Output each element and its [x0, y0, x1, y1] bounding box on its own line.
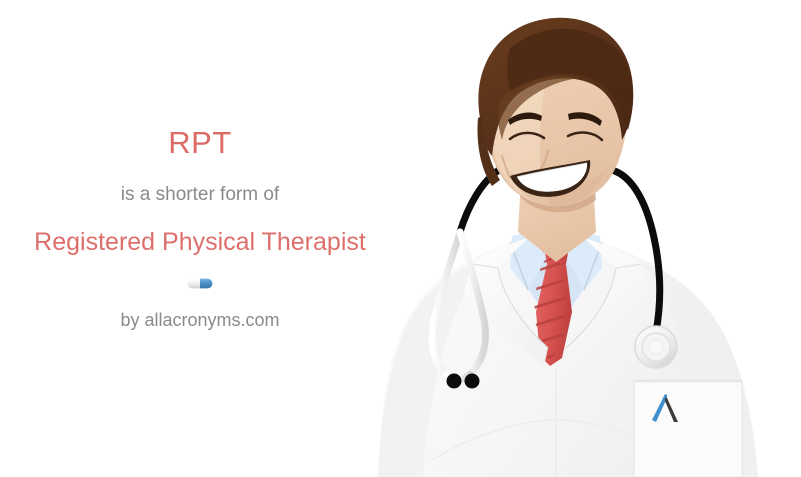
attribution-text: by allacronyms.com	[120, 310, 279, 332]
smiling-doctor-illustration	[360, 0, 801, 477]
definition-text-panel: RPT is a shorter form of Registered Phys…	[0, 0, 400, 477]
divider-row	[187, 278, 213, 292]
stethoscope-eartip-left	[447, 374, 462, 389]
chest-pocket	[634, 381, 742, 477]
stethoscope-chest-piece	[635, 326, 677, 368]
stethoscope-eartip-right	[465, 374, 480, 389]
acronym-title: RPT	[168, 126, 232, 160]
expansion-text: Registered Physical Therapist	[34, 226, 366, 259]
connector-text: is a shorter form of	[121, 184, 279, 207]
page-root: RPT is a shorter form of Registered Phys…	[0, 0, 801, 477]
pill-capsule-icon	[187, 276, 213, 294]
